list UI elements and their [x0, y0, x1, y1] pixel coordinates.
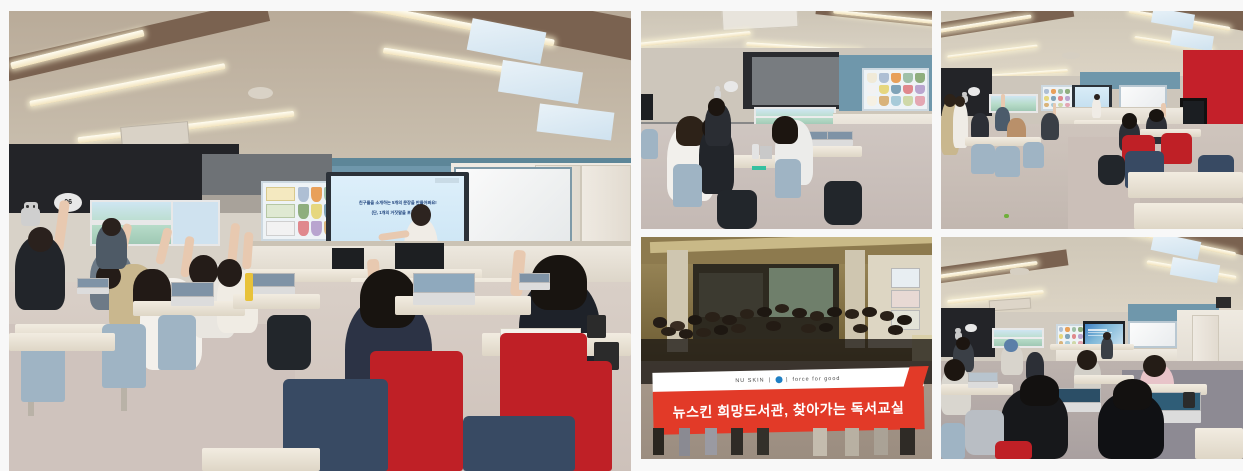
wall-tv [1180, 98, 1207, 126]
photo-group-banner[interactable]: NU SKIN | | force for good 뉴스킨 희망도서관, 찾아… [641, 237, 932, 459]
photo-main-classroom[interactable]: 06 친구들을 소개하는 5개의 문장을 만들어봐요! (단, 1개의 거짓말을… [9, 11, 631, 471]
projector-line-1: 친구들을 소개하는 5개의 문장을 만들어봐요! [331, 200, 464, 206]
photo-classroom-red-wall[interactable] [941, 11, 1243, 229]
nu-skin-globe-icon [775, 377, 782, 384]
banner-logo-secondary: force for good [792, 376, 840, 383]
photo-classroom-laptops[interactable] [941, 237, 1243, 459]
banner-headline: 뉴스킨 희망도서관, 찾아가는 독서교실 [672, 398, 904, 423]
program-banner: NU SKIN | | force for good 뉴스킨 희망도서관, 찾아… [652, 367, 924, 435]
banner-logo-divider: | [768, 377, 771, 383]
banner-logo-primary: NU SKIN [735, 378, 764, 385]
photo-students-desks[interactable] [641, 11, 932, 229]
banner-logo-divider-2: | [786, 377, 789, 383]
shield-poster [862, 68, 929, 112]
photo-collage: 06 친구들을 소개하는 5개의 문장을 만들어봐요! (단, 1개의 거짓말을… [0, 0, 1243, 471]
projector-line-2: (단, 1개의 거짓말을 포함하여) [331, 210, 464, 216]
